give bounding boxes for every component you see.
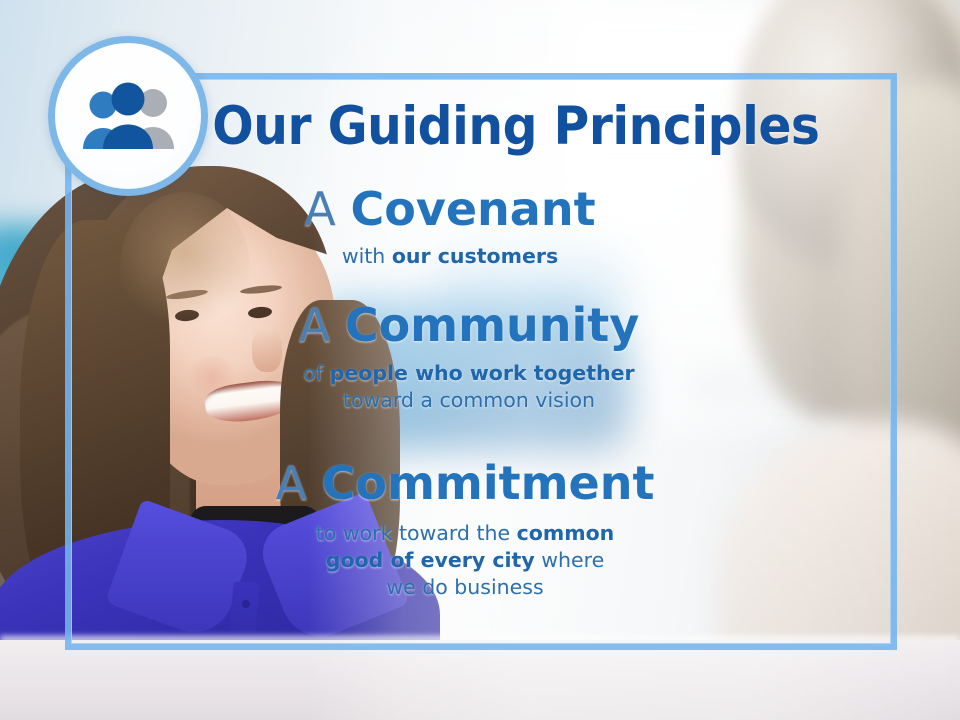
principle-article: A xyxy=(299,298,330,352)
principle-block-commitment: A Commitment to work toward the commongo… xyxy=(0,460,930,602)
principle-subtext: with our customers xyxy=(0,243,900,270)
principle-subtext-line: to work toward the common xyxy=(0,520,930,547)
poster-canvas: FLOW AUTOMOTIVE FLOW xyxy=(0,0,960,720)
principle-subtext-line: with our customers xyxy=(0,243,900,270)
principle-heading: A Commitment xyxy=(0,460,930,508)
poster-title: Our Guiding Principles xyxy=(38,96,921,157)
principle-subtext: of people who work togethertoward a comm… xyxy=(0,360,938,415)
principle-block-community: A Community of people who work togethert… xyxy=(0,302,938,414)
principle-subtext-line: good of every city where xyxy=(0,547,930,574)
principle-word: Commitment xyxy=(322,456,655,510)
principle-subtext-line: of people who work together xyxy=(0,360,938,387)
principle-word: Covenant xyxy=(351,182,596,236)
principle-subtext-line: toward a common vision xyxy=(0,387,938,414)
principle-article: A xyxy=(304,182,335,236)
desk-surface xyxy=(0,640,960,720)
principle-word: Community xyxy=(345,298,639,352)
principle-subtext: to work toward the commongood of every c… xyxy=(0,520,930,602)
principle-article: A xyxy=(276,456,307,510)
principle-heading: A Community xyxy=(0,302,938,350)
principle-block-covenant: A Covenant with our customers xyxy=(0,186,900,270)
principle-heading: A Covenant xyxy=(0,186,900,234)
principle-subtext-line: we do business xyxy=(0,574,930,601)
